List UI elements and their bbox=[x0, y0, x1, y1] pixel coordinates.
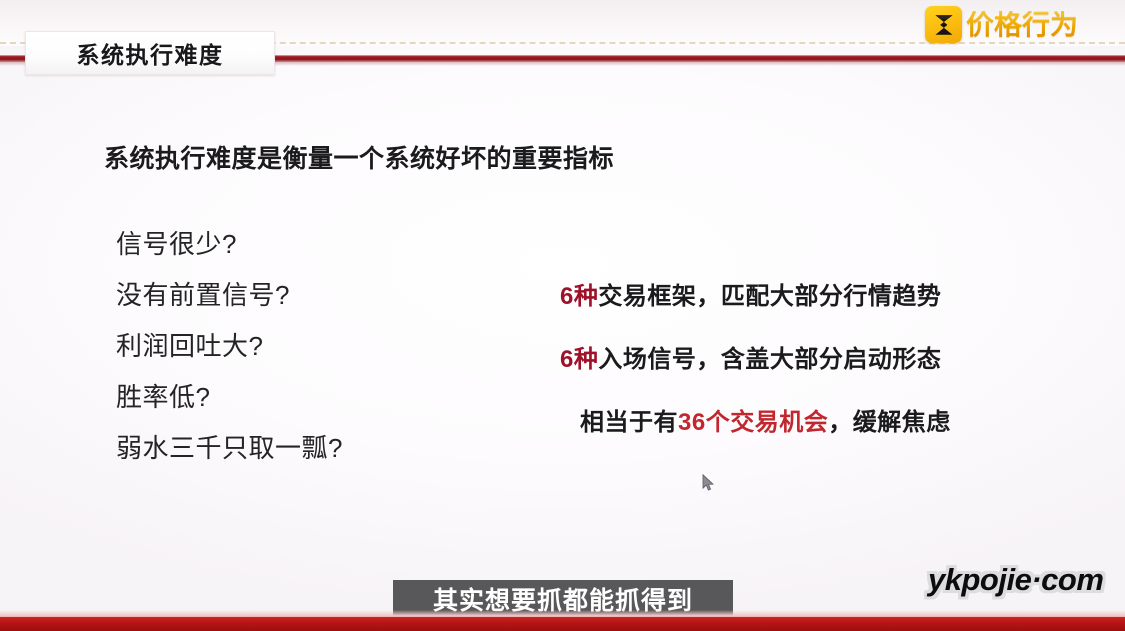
list-item: 胜率低? bbox=[116, 372, 343, 423]
presentation-slide: 系统执行难度 价格行为 系统执行难度是衡量一个系统好坏的重要指标 信号很少? 没… bbox=[0, 0, 1125, 631]
list-item: 相当于有36个交易机会，缓解焦虑 bbox=[560, 388, 1030, 451]
question-list: 信号很少? 没有前置信号? 利润回吐大? 胜率低? 弱水三千只取一瓢? bbox=[116, 219, 343, 474]
list-item: 没有前置信号? bbox=[116, 270, 343, 321]
answer-highlight: 6种 bbox=[560, 276, 598, 311]
slide-title-text: 系统执行难度 bbox=[77, 36, 224, 70]
brand-logo: 价格行为 bbox=[925, 6, 1078, 43]
site-watermark: ykpojie·com bbox=[928, 562, 1103, 598]
answer-list: 6种交易框架，匹配大部分行情趋势 6种入场信号，含盖大部分启动形态 相当于有36… bbox=[560, 262, 1030, 451]
page-title: 系统执行难度是衡量一个系统好坏的重要指标 bbox=[104, 139, 614, 175]
list-item: 6种交易框架，匹配大部分行情趋势 bbox=[560, 262, 1030, 325]
list-item: 弱水三千只取一瓢? bbox=[116, 423, 343, 474]
answer-highlight: 6种 bbox=[560, 339, 598, 374]
list-item: 信号很少? bbox=[116, 219, 343, 270]
slide-title-chip: 系统执行难度 bbox=[25, 31, 275, 75]
answer-text: 入场信号，含盖大部分启动形态 bbox=[598, 339, 941, 374]
hourglass-z-logo-icon bbox=[925, 6, 962, 43]
answer-text: 相当于有 bbox=[580, 402, 678, 437]
answer-highlight: 36个交易机会 bbox=[678, 402, 828, 437]
brand-name-text: 价格行为 bbox=[966, 11, 1078, 39]
answer-text: ，缓解焦虑 bbox=[828, 402, 951, 437]
list-item: 利润回吐大? bbox=[116, 321, 343, 372]
list-item: 6种入场信号，含盖大部分启动形态 bbox=[560, 325, 1030, 388]
mouse-cursor-icon bbox=[702, 474, 715, 492]
footer-red-bar bbox=[0, 617, 1125, 631]
answer-text: 交易框架，匹配大部分行情趋势 bbox=[598, 276, 941, 311]
